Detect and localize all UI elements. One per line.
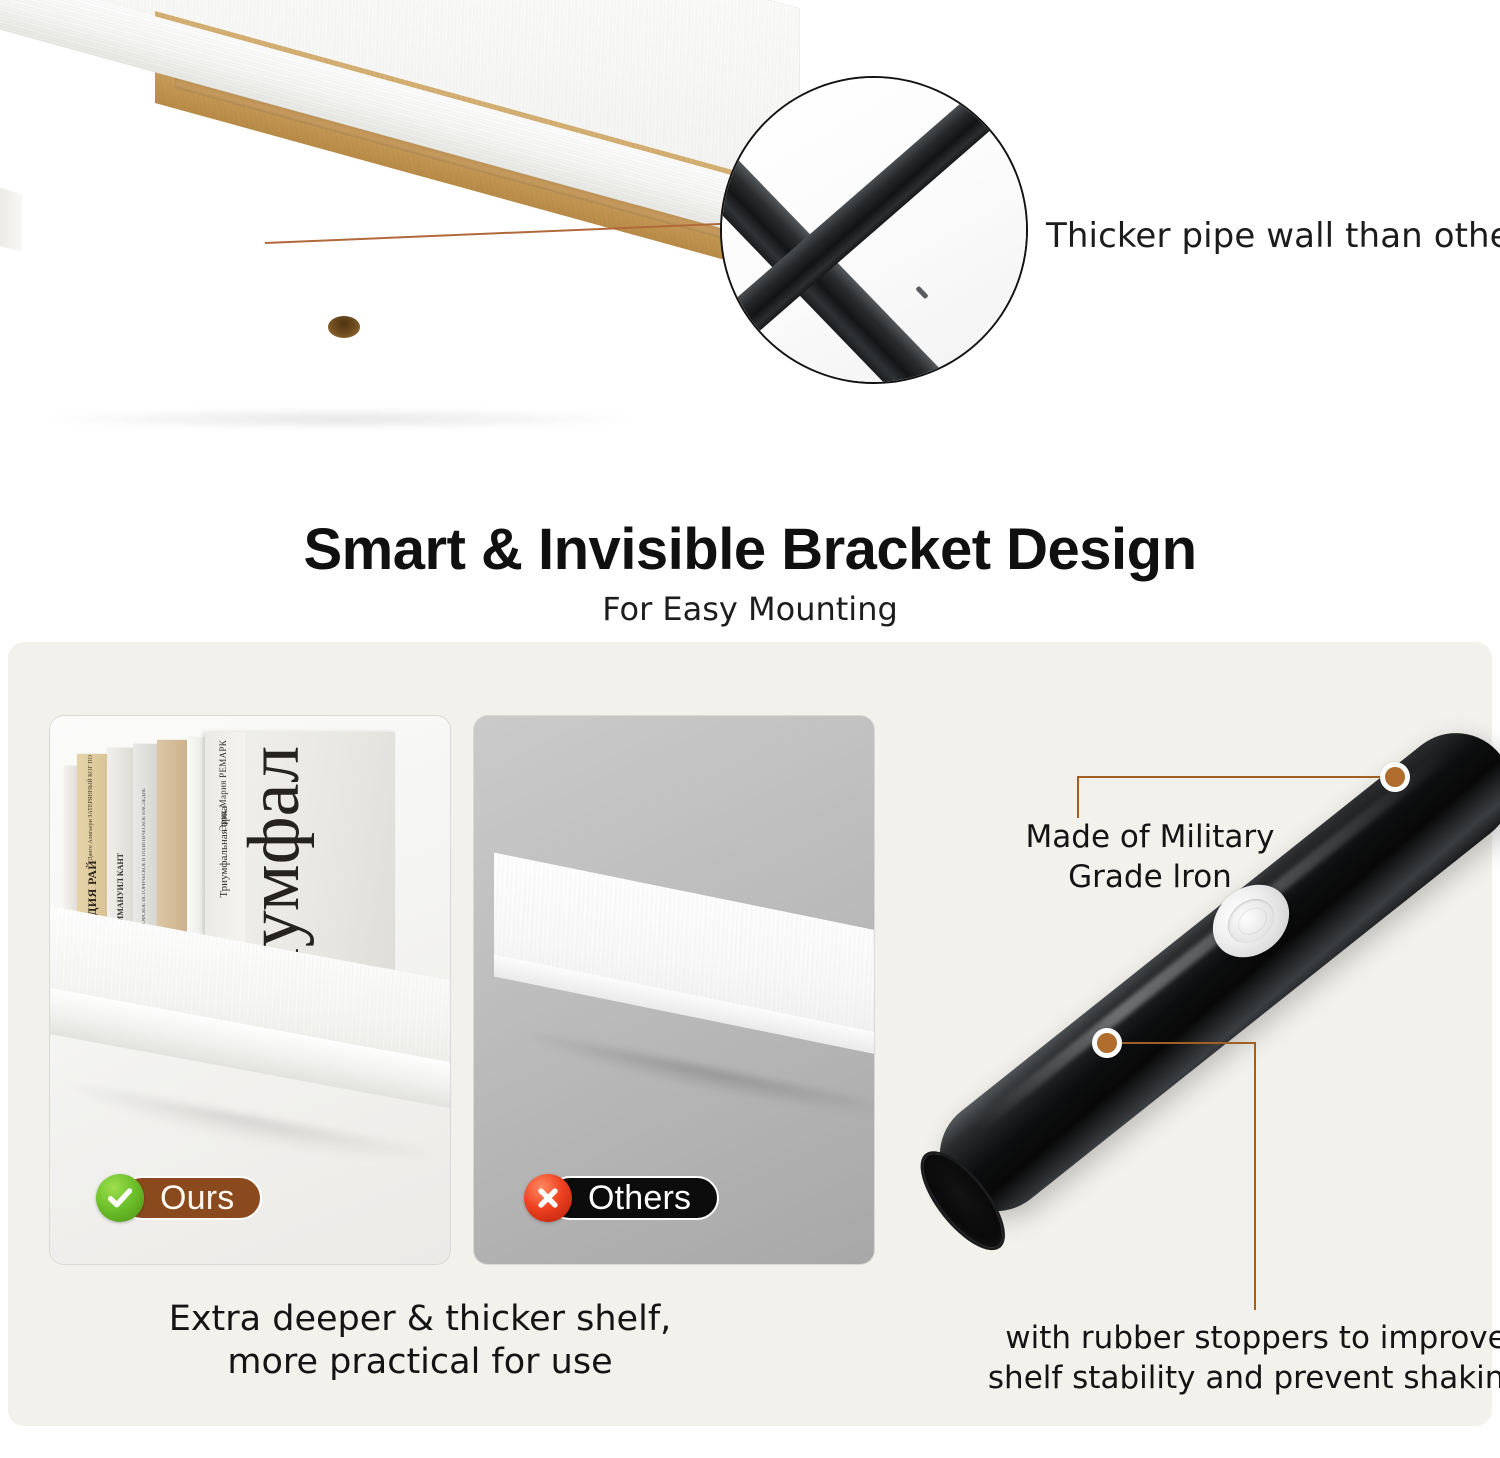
x-circle-icon (524, 1174, 572, 1222)
caption-line-1: Extra deeper & thicker shelf, (40, 1298, 800, 1341)
rubber-stopper-line-1: with rubber stoppers to improve (906, 1318, 1500, 1358)
iron-pipe-photo (900, 660, 1500, 1300)
front-book-title: Триумфальная арка (218, 806, 230, 898)
comparison-caption: Extra deeper & thicker shelf, more pract… (40, 1298, 800, 1384)
hero-section: Thicker pipe wall than others (0, 0, 1500, 480)
rubber-stopper-line-2: shelf stability and prevent shaking (906, 1358, 1500, 1398)
mounting-hole (328, 316, 360, 338)
bottom-callout-leader-horizontal (1118, 1042, 1256, 1044)
others-badge-label: Others (548, 1176, 719, 1220)
page-subtitle: For Easy Mounting (0, 590, 1500, 628)
bottom-callout-dot (1092, 1028, 1122, 1058)
book-subtitle: ФИЛОСОФСКОЕ ИСТОРИЧЕСКОЕ И ПОЛИТИЧЕСКОЕ … (142, 788, 147, 942)
product-feature-infographic: Thicker pipe wall than others Smart & In… (0, 0, 1500, 1458)
top-callout-leader-horizontal (1077, 776, 1387, 778)
thicker-pipe-callout-label: Thicker pipe wall than others (1046, 216, 1500, 256)
check-circle-icon (96, 1174, 144, 1222)
shelf-left-endcap (0, 188, 22, 252)
caption-line-2: more practical for use (40, 1341, 800, 1384)
ours-badge: Ours (96, 1174, 262, 1222)
top-callout-dot (1380, 762, 1410, 792)
shelf-drop-shadow (30, 408, 650, 430)
top-callout-leader-vertical (1077, 776, 1079, 818)
black-iron-pipe (917, 710, 1500, 1233)
military-grade-line-1: Made of Military (930, 818, 1370, 858)
bottom-callout-leader-vertical (1254, 1042, 1256, 1310)
military-grade-line-2: Grade lron (930, 858, 1370, 898)
pipe-wall-magnifier (720, 76, 1028, 384)
rubber-stopper-callout: with rubber stoppers to improve shelf st… (906, 1318, 1500, 1399)
shelf-cutaway-photo (0, 8, 790, 438)
book-subtitle: Данте Алигьери ЗАТЕРЯННЫЙ КОГ ПО ИМЕНИ 1… (88, 754, 94, 860)
military-grade-callout: Made of Military Grade lron (930, 818, 1370, 897)
others-badge: Others (524, 1174, 719, 1222)
page-title: Smart & Invisible Bracket Design (0, 516, 1500, 583)
